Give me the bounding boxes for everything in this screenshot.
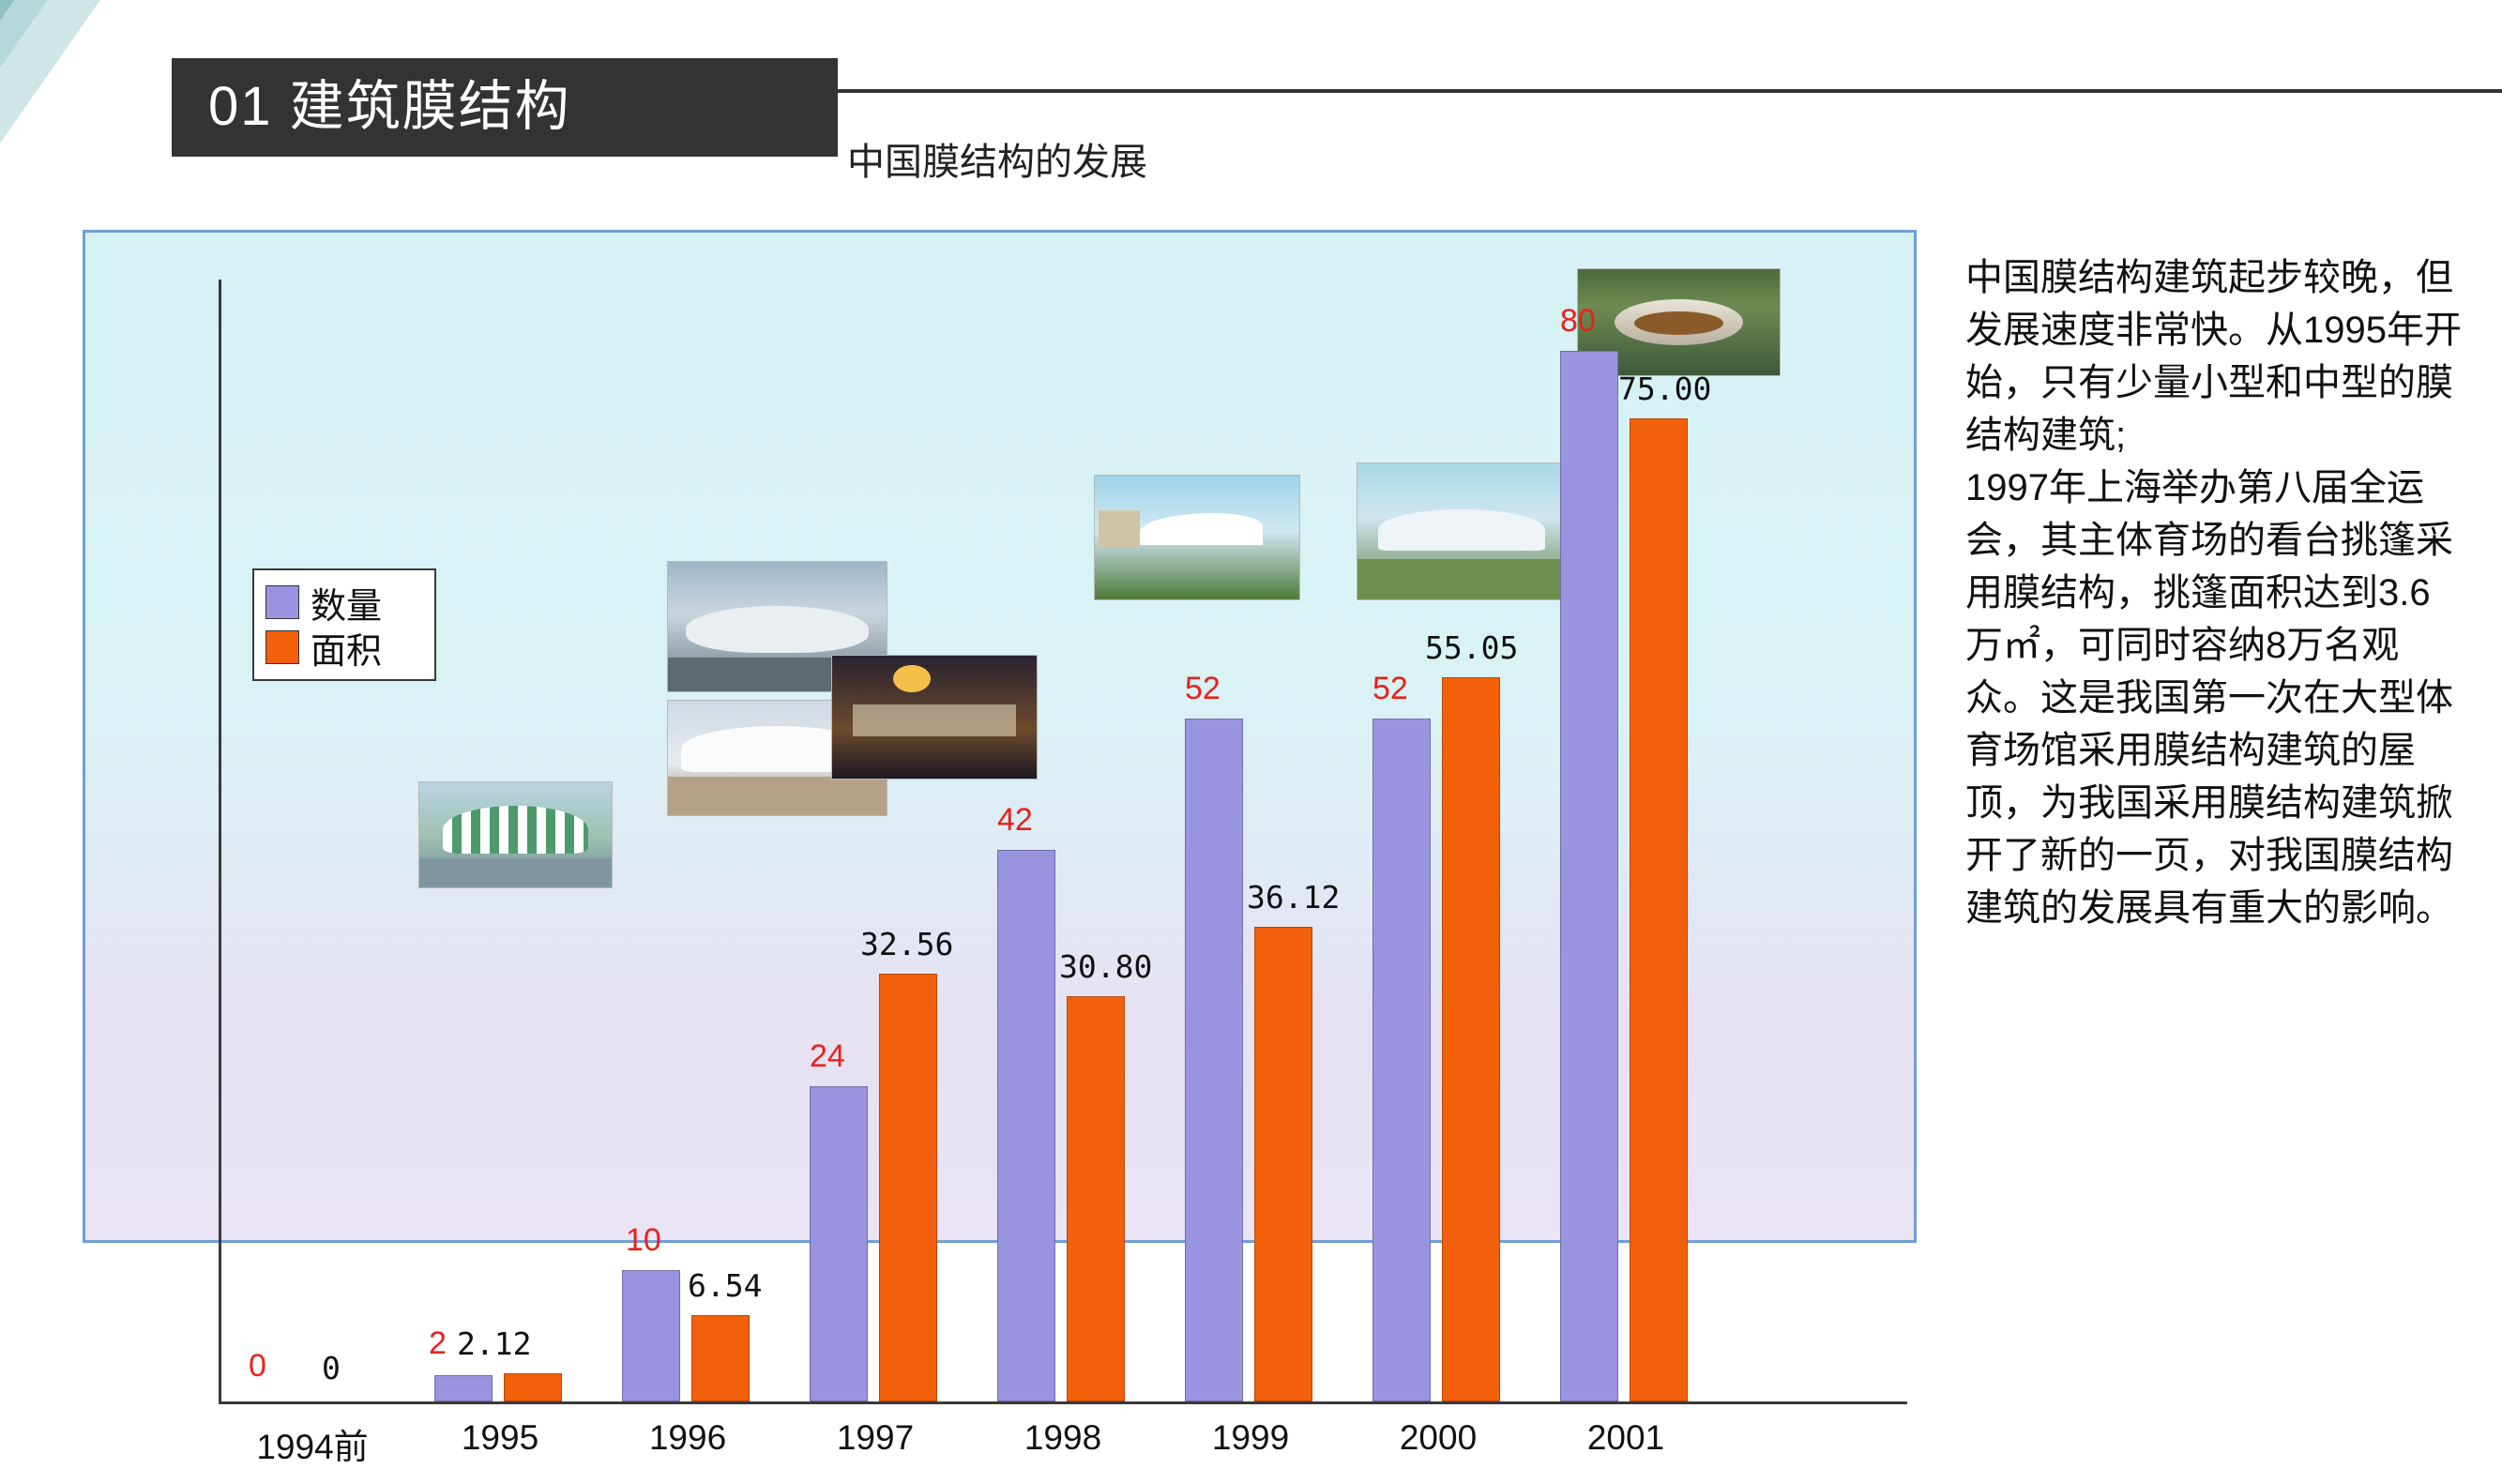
bar-count-1998	[997, 850, 1055, 1401]
bar-area-1995	[504, 1373, 562, 1401]
bar-label-count-4: 42	[997, 802, 1033, 839]
bar-area-1998	[1067, 996, 1125, 1401]
chart-plot-area: 数量 面积	[114, 251, 1887, 1358]
bar-area-2000	[1442, 677, 1500, 1401]
side-text-paragraph-2: 1997年上海举办第八届全运会，其主体育场的看台挑篷采用膜结构，挑篷面积达到3.…	[1965, 462, 2472, 934]
x-axis-labels: 1994前 1995 1996 1997 1998 1999 2000 2001	[219, 1418, 1907, 1484]
chart-panel: 数量 面积	[83, 230, 1917, 1243]
bar-label-area-5: 36.12	[1247, 879, 1340, 916]
bar-label-area-3: 32.56	[860, 926, 953, 962]
bar-label-count-6: 52	[1372, 671, 1408, 707]
x-label-2: 1996	[594, 1418, 781, 1458]
bar-count-1999	[1185, 719, 1243, 1401]
bar-label-count-0: 0	[249, 1348, 266, 1385]
bar-area-2001	[1630, 418, 1688, 1401]
x-label-3: 1997	[781, 1418, 969, 1458]
bar-label-area-6: 55.05	[1425, 629, 1518, 666]
x-label-4: 1998	[969, 1418, 1157, 1458]
x-label-7: 2001	[1532, 1418, 1720, 1458]
bar-area-1996	[691, 1315, 750, 1401]
bar-count-2000	[1372, 719, 1431, 1401]
bar-label-area-1: 2.12	[457, 1325, 531, 1362]
bar-group-2000: 52 55.05	[1344, 280, 1532, 1401]
bar-label-count-3: 24	[810, 1038, 845, 1075]
side-text: 中国膜结构建筑起步较晚，但发展速度非常快。从1995年开始，只有少量小型和中型的…	[1965, 251, 2472, 934]
x-label-6: 2000	[1344, 1418, 1532, 1458]
bar-group-1997: 24 32.56	[781, 280, 969, 1401]
bar-group-2001: 80 75.00	[1532, 280, 1720, 1401]
bar-count-2001	[1560, 351, 1618, 1401]
bar-group-1994前: 0 0	[219, 280, 406, 1401]
bar-group-1999: 52 36.12	[1157, 280, 1344, 1401]
bar-label-area-2: 6.54	[688, 1267, 762, 1304]
header-rule	[826, 89, 2502, 93]
bar-group-1995: 2 2.12	[406, 280, 594, 1401]
page-subtitle: 中国膜结构的发展	[847, 131, 1147, 186]
bar-group-1998: 42 30.80	[969, 280, 1157, 1401]
x-label-5: 1999	[1157, 1418, 1344, 1458]
x-axis-line	[219, 1401, 1907, 1404]
bars-layer: 0 0 2 2.12 10 6.54 24 32	[219, 280, 1907, 1401]
bar-label-area-4: 30.80	[1059, 948, 1152, 985]
x-label-1: 1995	[406, 1418, 594, 1458]
bar-label-count-2: 10	[626, 1222, 661, 1259]
bar-label-area-0: 0	[322, 1350, 341, 1386]
bar-area-1997	[879, 974, 937, 1401]
bar-area-1999	[1254, 927, 1312, 1401]
bar-count-1997	[810, 1086, 868, 1401]
bar-label-count-1: 2	[429, 1325, 447, 1362]
bar-count-1996	[622, 1270, 680, 1401]
bar-group-1996: 10 6.54	[594, 280, 781, 1401]
x-label-0: 1994前	[219, 1418, 406, 1469]
bar-label-count-5: 52	[1185, 671, 1221, 707]
bar-count-1995	[434, 1375, 493, 1401]
page-title: 01 建筑膜结构	[208, 74, 571, 140]
bar-label-area-7: 75.00	[1618, 371, 1711, 407]
side-text-paragraph-1: 中国膜结构建筑起步较晚，但发展速度非常快。从1995年开始，只有少量小型和中型的…	[1965, 251, 2472, 462]
bar-label-count-7: 80	[1560, 303, 1596, 340]
